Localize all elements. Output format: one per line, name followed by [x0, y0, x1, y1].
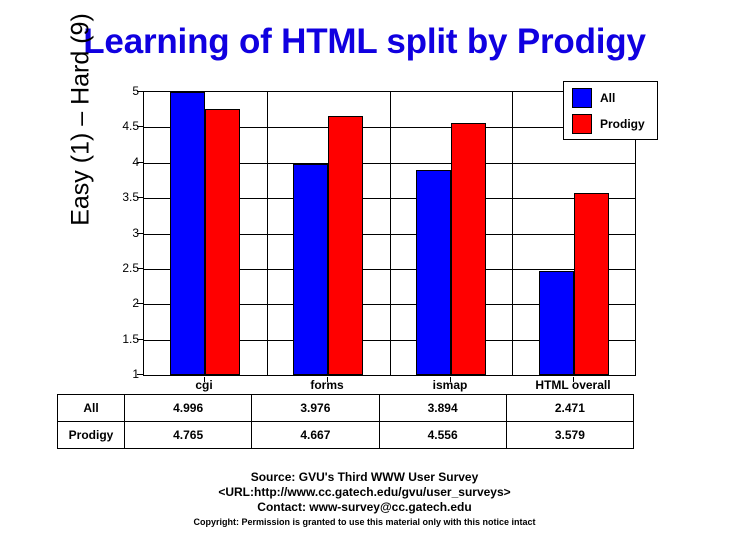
table-row: Prodigy4.7654.6674.5563.579 [58, 422, 634, 449]
page-title: Learning of HTML split by Prodigy [0, 22, 729, 62]
x-axis-tick-label: HTML overall [535, 378, 610, 392]
table-cell: 2.471 [506, 395, 633, 422]
y-axis-tick-label: 1 [99, 367, 139, 381]
y-axis-tick-mark [137, 126, 143, 127]
y-axis-tick-mark [137, 91, 143, 92]
table-row: All4.9963.9763.8942.471 [58, 395, 634, 422]
table-cell: 4.996 [125, 395, 252, 422]
table-cell: 4.556 [379, 422, 506, 449]
bar-all-cgi [170, 92, 205, 375]
footer-copyright: Copyright: Permission is granted to use … [0, 515, 729, 529]
legend-label-prodigy: Prodigy [600, 117, 645, 131]
x-axis-tick-labels: cgiformsismapHTML overall [143, 377, 634, 393]
bar-all-html-overall [539, 271, 574, 375]
gridline-vertical [390, 92, 391, 375]
y-axis-tick-mark [137, 303, 143, 304]
bar-prodigy-forms [328, 116, 363, 375]
y-axis-tick-label: 3.5 [99, 190, 139, 204]
table-cell: 3.579 [506, 422, 633, 449]
table-cell: 4.667 [252, 422, 379, 449]
y-axis-tick-mark [137, 162, 143, 163]
y-axis-tick-mark [137, 197, 143, 198]
bar-prodigy-ismap [451, 123, 486, 375]
bar-all-ismap [416, 170, 451, 375]
y-axis-tick-mark [137, 339, 143, 340]
footer-contact: Contact: www-survey@cc.gatech.edu [0, 500, 729, 515]
footer-source: Source: GVU's Third WWW User Survey [0, 470, 729, 485]
footer: Source: GVU's Third WWW User Survey <URL… [0, 470, 729, 529]
table-row-header: Prodigy [58, 422, 125, 449]
gridline-vertical [267, 92, 268, 375]
y-axis-tick-label: 2.5 [99, 261, 139, 275]
legend-swatch-prodigy [572, 114, 592, 134]
y-axis-tick-label: 4.5 [99, 119, 139, 133]
table-cell: 4.765 [125, 422, 252, 449]
y-axis-tick-mark [137, 233, 143, 234]
y-axis-tick-label: 1.5 [99, 332, 139, 346]
y-axis-tick-label: 3 [99, 226, 139, 240]
legend-swatch-all [572, 88, 592, 108]
table-cell: 3.976 [252, 395, 379, 422]
legend-label-all: All [600, 91, 615, 105]
y-axis-title: Easy (1) – Hard (9) [67, 0, 96, 265]
bar-prodigy-html-overall [574, 193, 609, 375]
chart-legend: AllProdigy [563, 81, 658, 140]
y-axis-tick-label: 2 [99, 296, 139, 310]
x-axis-tick-label: ismap [433, 378, 468, 392]
bar-all-forms [293, 164, 328, 375]
footer-url: <URL:http://www.cc.gatech.edu/gvu/user_s… [0, 485, 729, 500]
x-axis-tick-label: forms [310, 378, 343, 392]
data-table-body: All4.9963.9763.8942.471Prodigy4.7654.667… [58, 395, 634, 449]
bar-prodigy-cgi [205, 109, 240, 375]
y-axis-tick-mark [137, 374, 143, 375]
y-axis-tick-mark [137, 268, 143, 269]
y-axis-tick-label: 4 [99, 155, 139, 169]
table-row-header: All [58, 395, 125, 422]
chart-figure: Learning of HTML split by Prodigy Easy (… [0, 0, 729, 553]
x-axis-tick-label: cgi [195, 378, 212, 392]
y-axis-tick-label: 5 [99, 84, 139, 98]
table-cell: 3.894 [379, 395, 506, 422]
data-table: All4.9963.9763.8942.471Prodigy4.7654.667… [57, 394, 634, 449]
y-axis-tick-labels: 54.543.532.521.51 [95, 91, 139, 374]
gridline-vertical [512, 92, 513, 375]
